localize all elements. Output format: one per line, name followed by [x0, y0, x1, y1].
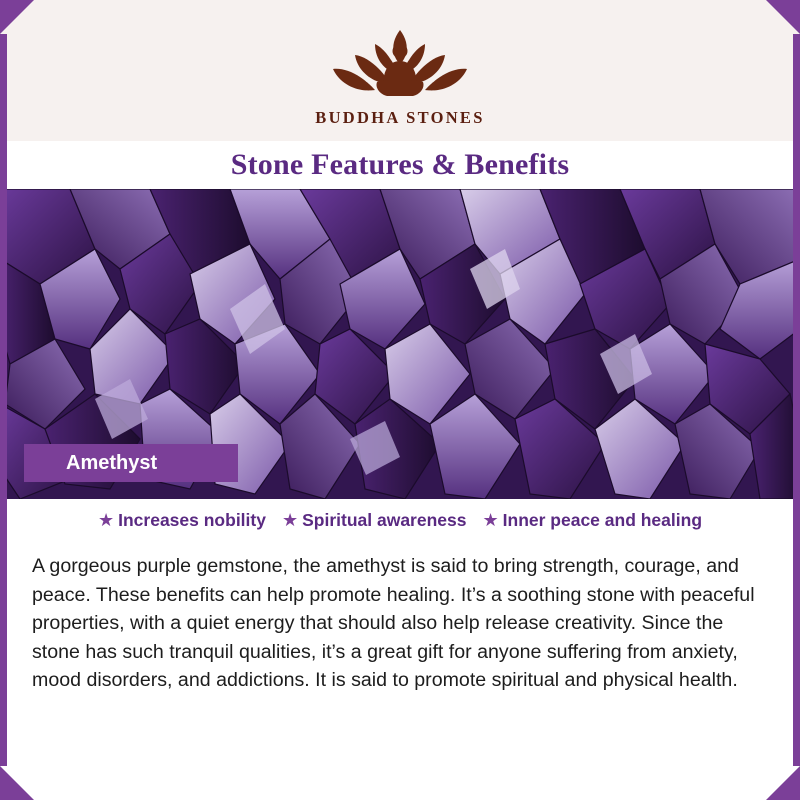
right-accent-bar: [793, 34, 800, 766]
benefit-item: ★ Increases nobility: [98, 510, 266, 531]
corner-accent-bottom-right: [766, 766, 800, 800]
description-text: A gorgeous purple gemstone, the amethyst…: [32, 552, 774, 695]
brand-name: BUDDHA STONES: [315, 108, 484, 128]
benefit-label: Increases nobility: [118, 510, 266, 531]
corner-accent-top-left: [0, 0, 34, 34]
corner-accent-bottom-left: [0, 766, 34, 800]
page-root: BUDDHA STONES Stone Features & Benefits: [0, 0, 800, 800]
benefit-item: ★ Inner peace and healing: [483, 510, 703, 531]
star-icon: ★: [282, 511, 298, 529]
corner-accent-top-right: [766, 0, 800, 34]
lotus-meditation-figure-icon: [315, 24, 485, 106]
brand-logo: BUDDHA STONES: [0, 24, 800, 128]
stone-name-text: Amethyst: [66, 452, 157, 475]
left-accent-bar: [0, 34, 7, 766]
benefit-item: ★ Spiritual awareness: [282, 510, 467, 531]
star-icon: ★: [98, 511, 114, 529]
benefit-label: Spiritual awareness: [302, 510, 466, 531]
benefit-label: Inner peace and healing: [503, 510, 702, 531]
benefits-row: ★ Increases nobility ★ Spiritual awarene…: [0, 510, 800, 531]
page-title: Stone Features & Benefits: [231, 148, 570, 182]
section-title-band: Stone Features & Benefits: [0, 141, 800, 189]
stone-name-label: Amethyst: [24, 444, 238, 482]
star-icon: ★: [483, 511, 499, 529]
